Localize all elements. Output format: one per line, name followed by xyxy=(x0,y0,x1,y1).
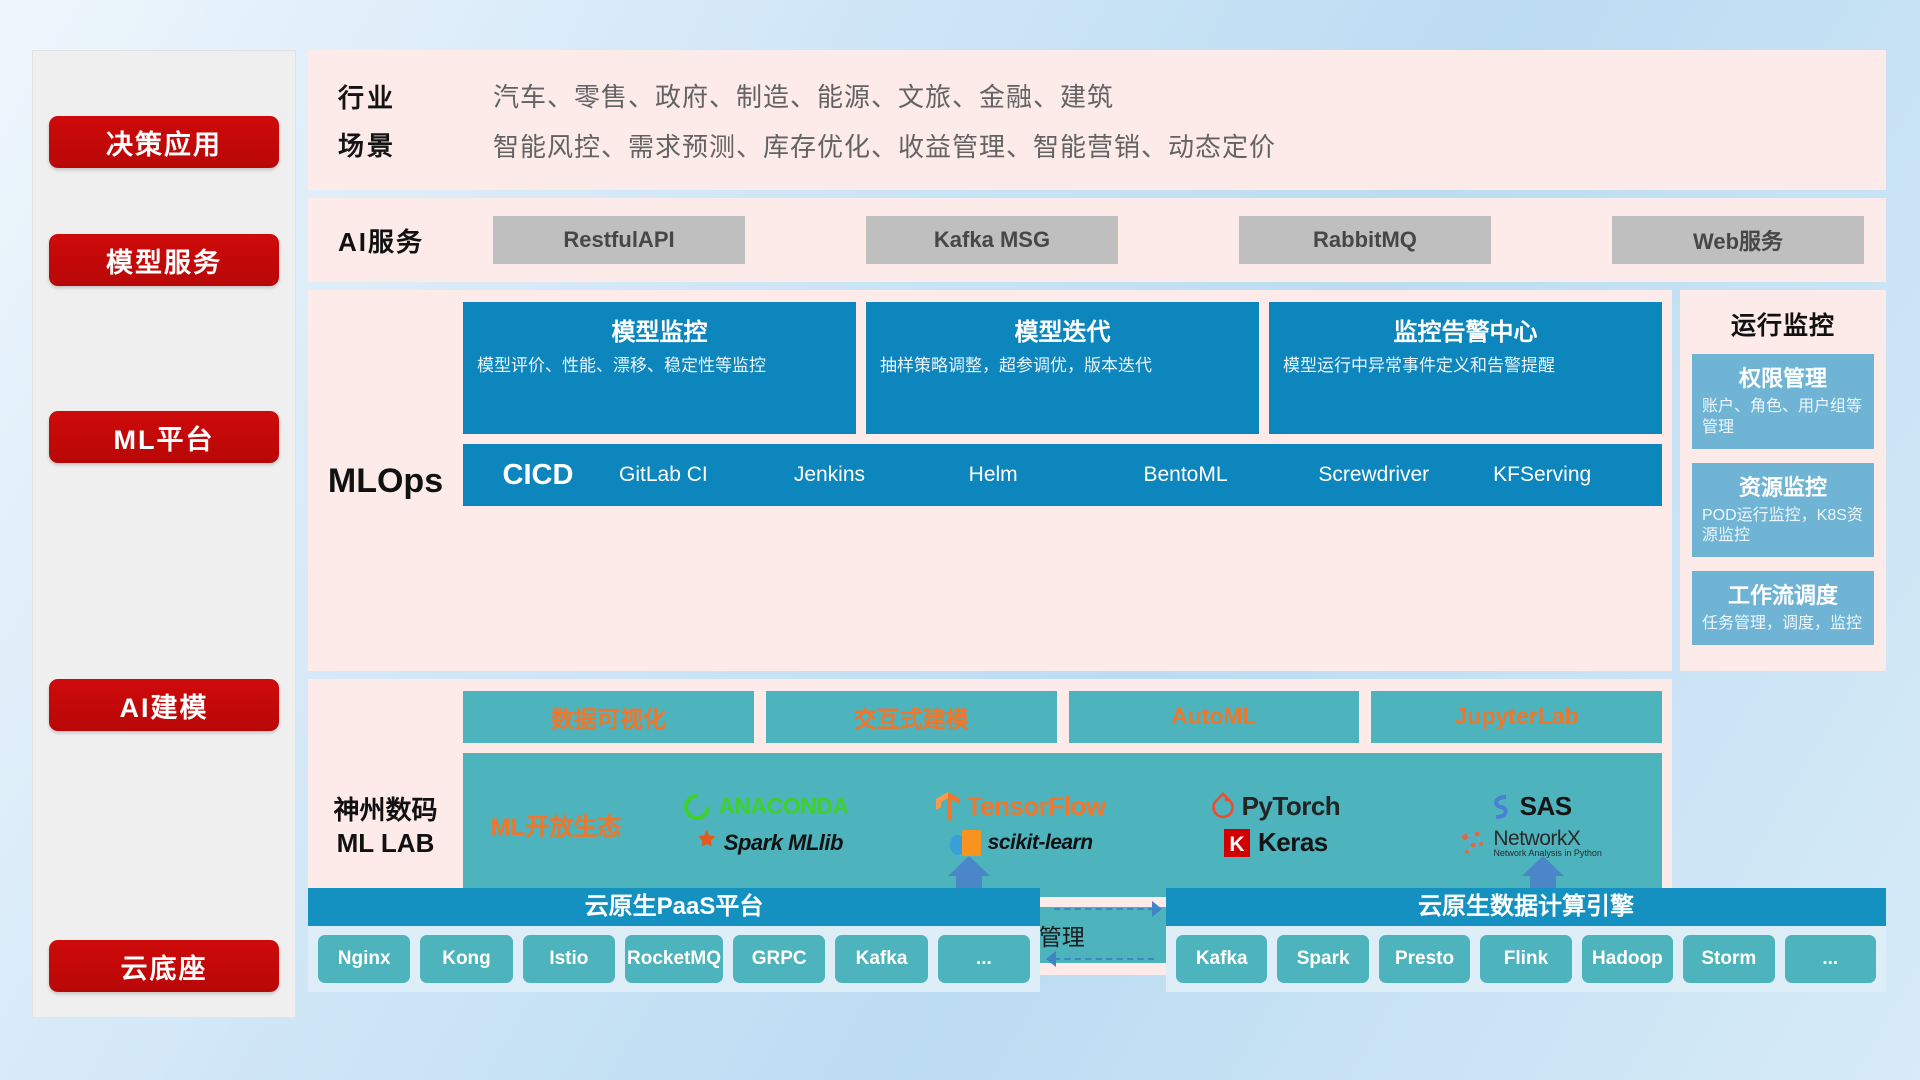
svg-text:K: K xyxy=(1229,833,1244,856)
mlops-cards: 模型监控 模型评价、性能、漂移、稳定性等监控 模型迭代 抽样策略调整，超参调优，… xyxy=(463,302,1662,434)
service-restfulapi[interactable]: RestfulAPI xyxy=(493,216,745,264)
rail-item-model-service[interactable]: 模型服务 xyxy=(49,234,279,286)
cicd-item-bentoml[interactable]: BentoML xyxy=(1137,464,1312,486)
logo-label: NetworkX xyxy=(1493,828,1602,849)
networkx-icon xyxy=(1457,828,1487,858)
left-rail: 决策应用 模型服务 ML平台 AI建模 云底座 xyxy=(32,50,296,1018)
rail-label: AI建模 xyxy=(120,686,209,725)
monitor-card-resource[interactable]: 资源监控 POD运行监控，K8S资源监控 xyxy=(1692,463,1874,558)
logo-anaconda: ANACONDA xyxy=(682,792,848,822)
keras-icon: K xyxy=(1222,827,1252,859)
chip-hadoop[interactable]: Hadoop xyxy=(1582,935,1673,983)
card-desc: 任务管理，调度，监控 xyxy=(1702,614,1864,635)
ai-service-label: AI服务 xyxy=(308,222,493,259)
mlops-and-monitor-row: MLOps 模型监控 模型评价、性能、漂移、稳定性等监控 模型迭代 抽样策略调整… xyxy=(308,290,1886,671)
card-desc: 模型运行中异常事件定义和告警提醒 xyxy=(1283,355,1648,378)
logo-label: scikit-learn xyxy=(988,831,1093,855)
mlops-card-alert-center[interactable]: 监控告警中心 模型运行中异常事件定义和告警提醒 xyxy=(1269,302,1662,434)
compute-chips: Kafka Spark Presto Flink Hadoop Storm ..… xyxy=(1166,926,1886,992)
ml-lab-label-line2: ML LAB xyxy=(337,827,435,860)
card-title: 工作流调度 xyxy=(1702,578,1864,610)
service-web[interactable]: Web服务 xyxy=(1612,216,1864,264)
card-title: 资源监控 xyxy=(1702,470,1864,502)
ai-service-cells: RestfulAPI Kafka MSG RabbitMQ Web服务 xyxy=(493,216,1886,264)
rail-label: 云底座 xyxy=(121,947,208,986)
anaconda-icon xyxy=(682,792,712,822)
rail-label: 决策应用 xyxy=(106,123,222,162)
modeling-tools-row: 数据可视化 交互式建模 AutoML JupyterLab xyxy=(463,691,1662,743)
ml-ecosystem-label: ML开放生态 xyxy=(471,807,641,842)
chip-spark[interactable]: Spark xyxy=(1277,935,1368,983)
card-desc: 账户、角色、用户组等管理 xyxy=(1702,397,1864,439)
compute-engine-panel: 云原生数据计算引擎 Kafka Spark Presto Flink Hadoo… xyxy=(1166,888,1886,992)
ml-ecosystem-logos: ANACONDA TensorFlow xyxy=(641,791,1654,859)
logo-label: TensorFlow xyxy=(967,791,1106,822)
logo-sas: SAS xyxy=(1488,791,1572,822)
compute-engine-title: 云原生数据计算引擎 xyxy=(1166,888,1886,926)
paas-chips: Nginx Kong Istio RocketMQ GRPC Kafka ... xyxy=(308,926,1040,992)
cicd-item-jenkins[interactable]: Jenkins xyxy=(788,464,963,486)
spark-icon xyxy=(688,827,718,859)
logo-pytorch: PyTorch xyxy=(1210,791,1341,822)
logo-label: ANACONDA xyxy=(718,793,848,820)
ml-ecosystem-row: ML开放生态 ANACONDA xyxy=(463,753,1662,897)
tool-interactive-modeling[interactable]: 交互式建模 xyxy=(766,691,1057,743)
industry-scenario-values: 汽车、零售、政府、制造、能源、文旅、金融、建筑 智能风控、需求预测、库存优化、收… xyxy=(493,64,1886,177)
chip-rocketmq[interactable]: RocketMQ xyxy=(625,935,723,983)
card-desc: 抽样策略调整，超参调优，版本迭代 xyxy=(880,355,1245,378)
mlops-card-model-monitoring[interactable]: 模型监控 模型评价、性能、漂移、稳定性等监控 xyxy=(463,302,856,434)
mlops-stack: 模型监控 模型评价、性能、漂移、稳定性等监控 模型迭代 抽样策略调整，超参调优，… xyxy=(463,302,1672,661)
industry-label: 行业 xyxy=(338,78,493,115)
monitor-card-permission[interactable]: 权限管理 账户、角色、用户组等管理 xyxy=(1692,354,1874,449)
mlops-card-model-iteration[interactable]: 模型迭代 抽样策略调整，超参调优，版本迭代 xyxy=(866,302,1259,434)
logo-keras: K Keras xyxy=(1222,827,1328,859)
cicd-item-kfserving[interactable]: KFServing xyxy=(1487,464,1662,486)
rail-item-ml-platform[interactable]: ML平台 xyxy=(49,411,279,463)
logo-spark-mllib: Spark MLlib xyxy=(688,827,843,859)
chip-kafka-compute[interactable]: Kafka xyxy=(1176,935,1267,983)
chip-kafka[interactable]: Kafka xyxy=(835,935,927,983)
logo-networkx: NetworkX Network Analysis in Python xyxy=(1457,828,1602,858)
chip-nginx[interactable]: Nginx xyxy=(318,935,410,983)
rail-item-cloud-foundation[interactable]: 云底座 xyxy=(49,940,279,992)
card-title: 模型迭代 xyxy=(880,312,1245,347)
architecture-diagram: 决策应用 模型服务 ML平台 AI建模 云底座 行业 场景 汽车、零售、政府、制… xyxy=(0,0,1920,1080)
sas-icon xyxy=(1488,792,1514,822)
chip-more-compute[interactable]: ... xyxy=(1785,935,1876,983)
logo-label: SAS xyxy=(1520,791,1572,822)
rail-item-ai-modeling[interactable]: AI建模 xyxy=(49,679,279,731)
logo-label: PyTorch xyxy=(1242,791,1341,822)
monitor-rail-title: 运行监控 xyxy=(1692,306,1874,342)
rail-label: 模型服务 xyxy=(106,241,222,280)
chip-flink[interactable]: Flink xyxy=(1480,935,1571,983)
chip-kong[interactable]: Kong xyxy=(420,935,512,983)
mlops-band: MLOps 模型监控 模型评价、性能、漂移、稳定性等监控 模型迭代 抽样策略调整… xyxy=(308,290,1672,671)
card-title: 权限管理 xyxy=(1702,361,1864,393)
cicd-item-gitlab-ci[interactable]: GitLab CI xyxy=(613,464,788,486)
main-stack: 行业 场景 汽车、零售、政府、制造、能源、文旅、金融、建筑 智能风控、需求预测、… xyxy=(308,50,1886,975)
monitor-rail: 运行监控 权限管理 账户、角色、用户组等管理 资源监控 POD运行监控，K8S资… xyxy=(1680,290,1886,671)
paas-title: 云原生PaaS平台 xyxy=(308,888,1040,926)
tensorflow-icon xyxy=(935,791,961,823)
cicd-item-screwdriver[interactable]: Screwdriver xyxy=(1312,464,1487,486)
paas-panel: 云原生PaaS平台 Nginx Kong Istio RocketMQ GRPC… xyxy=(308,888,1040,992)
scenario-value: 智能风控、需求预测、库存优化、收益管理、智能营销、动态定价 xyxy=(493,127,1886,164)
tool-data-visualization[interactable]: 数据可视化 xyxy=(463,691,754,743)
industry-scenario-labels: 行业 场景 xyxy=(308,67,493,174)
tool-automl[interactable]: AutoML xyxy=(1069,691,1360,743)
service-rabbitmq[interactable]: RabbitMQ xyxy=(1239,216,1491,264)
scikit-learn-icon xyxy=(948,827,982,859)
card-desc: 模型评价、性能、漂移、稳定性等监控 xyxy=(477,355,842,378)
cloud-foundation-row: 云原生PaaS平台 Nginx Kong Istio RocketMQ GRPC… xyxy=(308,888,1886,1018)
logo-label-spark: Spark MLlib xyxy=(724,830,843,856)
industry-scenario-band: 行业 场景 汽车、零售、政府、制造、能源、文旅、金融、建筑 智能风控、需求预测、… xyxy=(308,50,1886,190)
rail-item-decision-app[interactable]: 决策应用 xyxy=(49,116,279,168)
chip-presto[interactable]: Presto xyxy=(1379,935,1470,983)
logo-label: Keras xyxy=(1258,827,1328,858)
card-title: 监控告警中心 xyxy=(1283,312,1648,347)
chip-more[interactable]: ... xyxy=(938,935,1030,983)
industry-value: 汽车、零售、政府、制造、能源、文旅、金融、建筑 xyxy=(493,77,1886,114)
card-desc: POD运行监控，K8S资源监控 xyxy=(1702,506,1864,548)
ml-lab-label-line1: 神州数码 xyxy=(333,794,437,827)
chip-storm[interactable]: Storm xyxy=(1683,935,1774,983)
cicd-row: CICD GitLab CI Jenkins Helm BentoML Scre… xyxy=(463,444,1662,506)
chip-grpc[interactable]: GRPC xyxy=(733,935,825,983)
cicd-items: GitLab CI Jenkins Helm BentoML Screwdriv… xyxy=(613,464,1662,486)
cicd-label: CICD xyxy=(463,459,613,492)
ai-service-band: AI服务 RestfulAPI Kafka MSG RabbitMQ Web服务 xyxy=(308,198,1886,282)
chip-istio[interactable]: Istio xyxy=(523,935,615,983)
mlops-label: MLOps xyxy=(308,302,463,661)
scenario-label: 场景 xyxy=(338,126,493,163)
pytorch-icon xyxy=(1210,792,1236,822)
monitor-card-workflow[interactable]: 工作流调度 任务管理，调度，监控 xyxy=(1692,571,1874,645)
service-kafka-msg[interactable]: Kafka MSG xyxy=(866,216,1118,264)
card-title: 模型监控 xyxy=(477,312,842,347)
logo-tensorflow: TensorFlow xyxy=(935,791,1106,823)
tool-jupyterlab[interactable]: JupyterLab xyxy=(1371,691,1662,743)
cicd-item-helm[interactable]: Helm xyxy=(963,464,1138,486)
rail-label: ML平台 xyxy=(114,418,215,457)
logo-scikit-learn: scikit-learn xyxy=(948,827,1093,859)
